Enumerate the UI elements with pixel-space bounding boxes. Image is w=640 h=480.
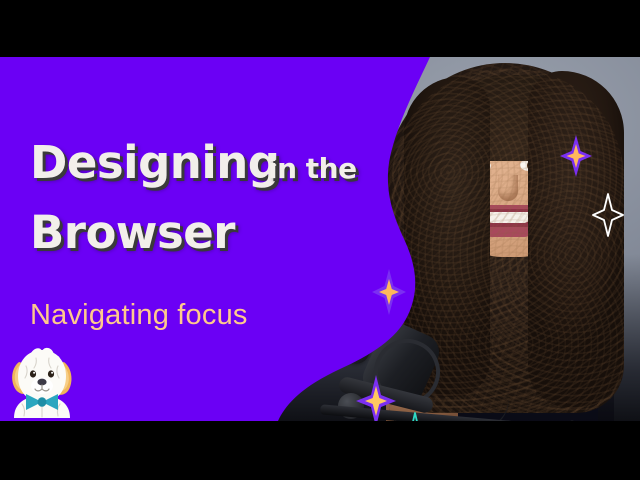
- title-line-small: in the: [268, 150, 357, 188]
- video-frame: Designing in the Browser Navigating focu…: [0, 0, 640, 480]
- title-line-1: Designing: [30, 137, 280, 189]
- sparkle-icon: [372, 269, 406, 315]
- sparkle-icon: [592, 193, 624, 237]
- title-line-2: Browser: [30, 207, 235, 259]
- letterbox-bottom: [0, 421, 640, 480]
- video-content-area: Designing in the Browser Navigating focu…: [0, 57, 640, 421]
- sparkle-icon: [560, 135, 592, 177]
- subtitle: Navigating focus: [30, 299, 248, 332]
- sparkle-icon: [356, 375, 396, 421]
- dog-mascot-logo: [6, 344, 78, 418]
- letterbox-top: [0, 0, 640, 57]
- sparkle-icon: [400, 412, 430, 421]
